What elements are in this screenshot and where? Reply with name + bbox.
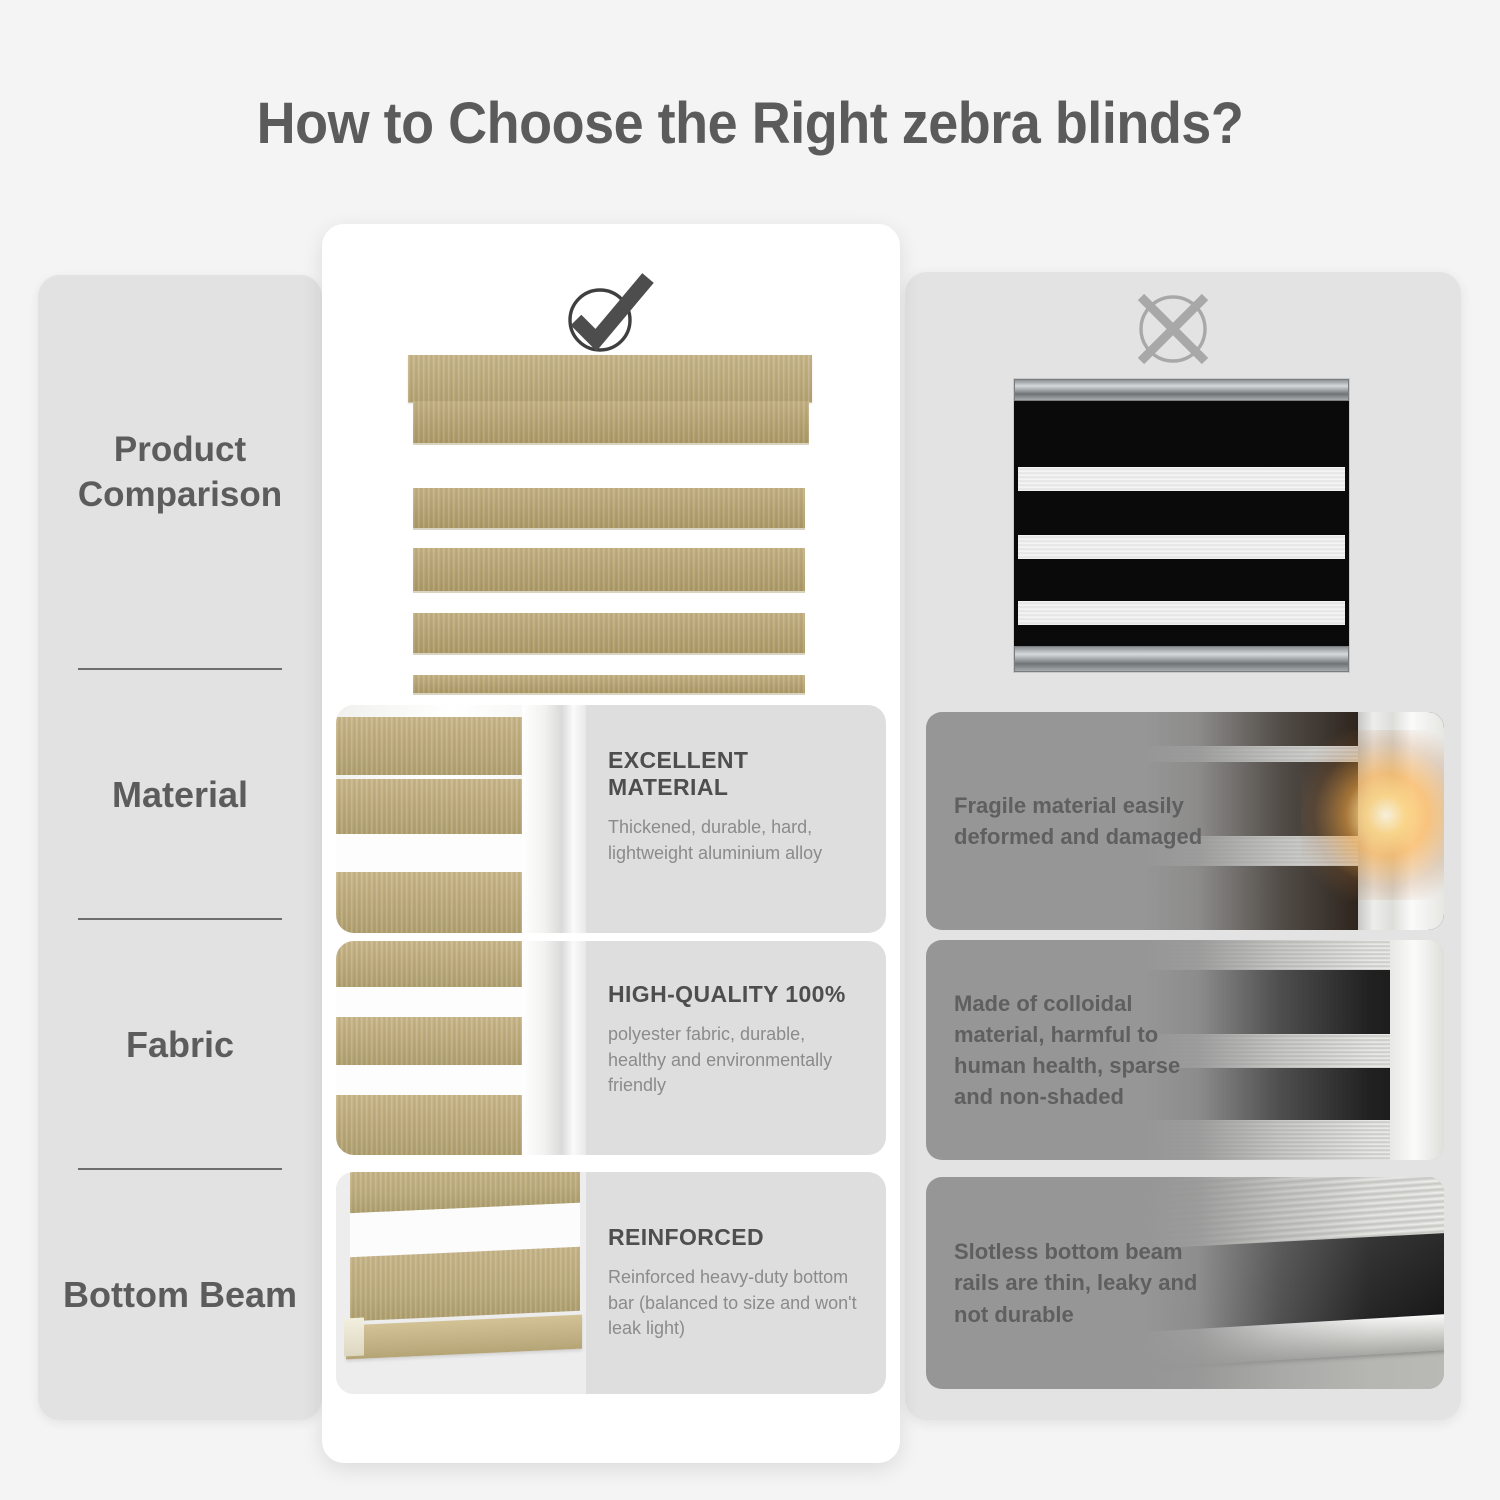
category-label-product-comparison: Product Comparison — [38, 275, 322, 670]
negative-text: Fragile material easily deformed and dam… — [954, 712, 1224, 930]
negative-card-fabric: Made of colloidal material, harmful to h… — [926, 940, 1444, 1160]
feature-body: Reinforced heavy-duty bottom bar (balanc… — [608, 1265, 862, 1342]
blind-bottom-bar — [413, 675, 805, 695]
page-title: How to Choose the Right zebra blinds? — [53, 90, 1448, 157]
feature-body: Thickened, durable, hard, lightweight al… — [608, 815, 862, 866]
blind-metal-headrail — [1014, 379, 1349, 401]
feature-title: HIGH-QUALITY 100% — [608, 981, 862, 1008]
check-circle-icon — [556, 268, 660, 360]
feature-title: REINFORCED — [608, 1224, 862, 1251]
feature-image-material — [336, 705, 586, 933]
category-label-bottom-beam: Bottom Beam — [38, 1170, 322, 1420]
blind-sheer-band — [1018, 467, 1345, 491]
category-label-material: Material — [38, 670, 322, 920]
blind-slat — [413, 401, 809, 445]
feature-card-material: EXCELLENT MATERIAL Thickened, durable, h… — [336, 705, 886, 933]
negative-text: Made of colloidal material, harmful to h… — [954, 940, 1224, 1160]
product-image-tan-zebra-blind — [408, 355, 812, 695]
blind-sheer-band — [1018, 601, 1345, 625]
feature-image-bottom-beam — [336, 1172, 586, 1394]
negative-card-material: Fragile material easily deformed and dam… — [926, 712, 1444, 930]
blind-metal-bottom-rail — [1014, 646, 1349, 672]
negative-card-bottom-beam: Slotless bottom beam rails are thin, lea… — [926, 1177, 1444, 1389]
blind-headrail — [408, 355, 812, 403]
feature-body: polyester fabric, durable, healthy and e… — [608, 1022, 862, 1099]
feature-card-bottom-beam: REINFORCED Reinforced heavy-duty bottom … — [336, 1172, 886, 1394]
cross-circle-icon — [1128, 284, 1218, 374]
feature-image-fabric — [336, 941, 586, 1155]
blind-sheer-band — [1018, 535, 1345, 559]
category-label-fabric: Fabric — [38, 920, 322, 1170]
blind-slat — [413, 613, 805, 655]
category-label-panel: Product Comparison Material Fabric Botto… — [38, 275, 322, 1420]
negative-text: Slotless bottom beam rails are thin, lea… — [954, 1177, 1224, 1389]
blind-slat — [413, 548, 805, 593]
product-image-black-zebra-blind — [1013, 378, 1350, 673]
feature-title: EXCELLENT MATERIAL — [608, 747, 862, 801]
blind-slat — [413, 488, 805, 530]
feature-card-fabric: HIGH-QUALITY 100% polyester fabric, dura… — [336, 941, 886, 1155]
